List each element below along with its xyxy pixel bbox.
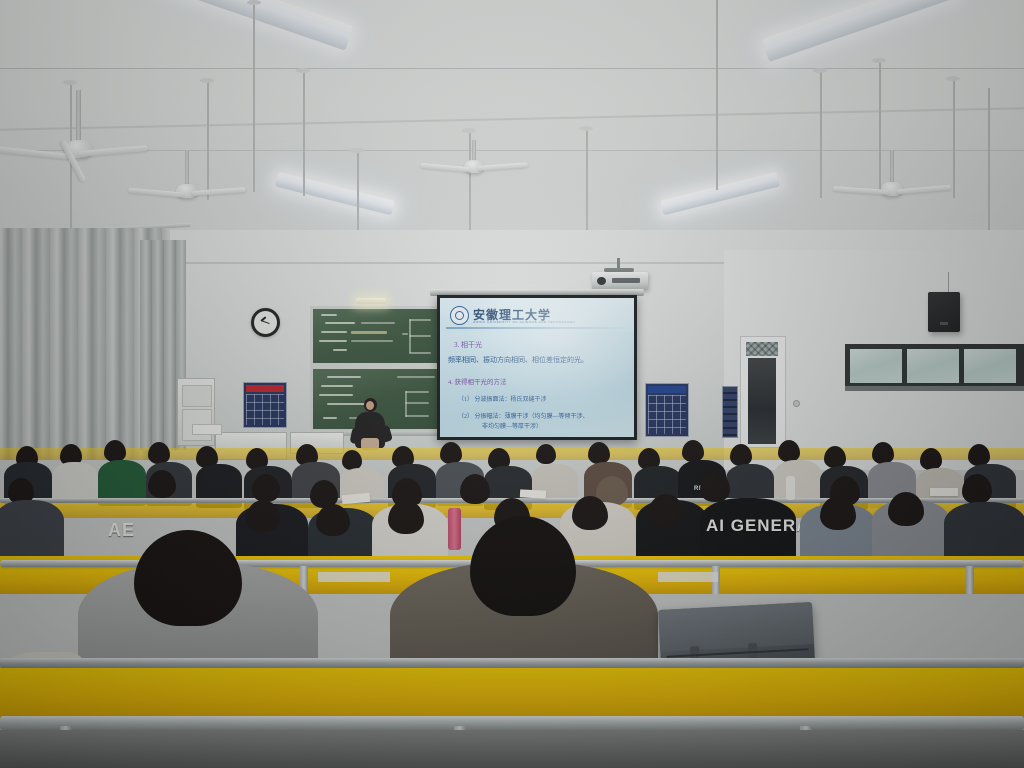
window-pane bbox=[964, 349, 1016, 383]
rod-cap bbox=[579, 126, 593, 131]
fan-pole bbox=[472, 140, 476, 162]
rod-cap bbox=[350, 148, 364, 153]
student-head bbox=[820, 496, 856, 530]
notice-board-left bbox=[243, 382, 287, 428]
clock-hand-minute bbox=[261, 320, 270, 324]
light-rod bbox=[303, 70, 305, 196]
desk-item bbox=[192, 424, 222, 435]
student-head bbox=[536, 444, 556, 464]
student-head bbox=[872, 442, 894, 464]
student-head bbox=[246, 500, 280, 532]
seat-slat bbox=[658, 572, 718, 582]
student-head bbox=[824, 446, 846, 468]
student-head bbox=[888, 492, 924, 526]
seat-slat bbox=[318, 572, 390, 582]
student-head bbox=[962, 474, 992, 504]
wall-clock bbox=[251, 308, 280, 337]
speaker-badge bbox=[940, 322, 948, 325]
foreground-student-head bbox=[134, 530, 242, 626]
ceiling-seam bbox=[0, 150, 1024, 151]
bag-flap bbox=[658, 602, 814, 652]
student-head bbox=[148, 470, 176, 498]
jacket-text-ae: AE bbox=[108, 520, 135, 541]
notice-board-header bbox=[648, 386, 686, 393]
light-rod bbox=[879, 60, 881, 192]
student-head bbox=[572, 496, 608, 530]
student-head bbox=[778, 440, 800, 462]
light-rod bbox=[207, 80, 209, 200]
projector-lens bbox=[597, 277, 606, 285]
ceiling-projector bbox=[592, 272, 648, 290]
notice-board-right bbox=[645, 383, 689, 437]
blackboard-lamp bbox=[356, 298, 386, 304]
rod-cap bbox=[813, 68, 827, 73]
notice-board-grid bbox=[648, 395, 686, 434]
student-head bbox=[342, 450, 362, 470]
leaflet-rack bbox=[722, 386, 738, 438]
paper-sheet bbox=[520, 489, 546, 498]
window-pane bbox=[850, 349, 902, 383]
student-head bbox=[968, 444, 990, 466]
floor bbox=[0, 730, 1024, 768]
rod-cap bbox=[63, 80, 77, 85]
window-frame bbox=[845, 344, 1024, 390]
door-transom-window bbox=[746, 342, 778, 356]
student-head bbox=[148, 442, 170, 464]
rod-cap bbox=[946, 76, 960, 81]
window-pane bbox=[907, 349, 959, 383]
student-head bbox=[648, 494, 684, 528]
student-head bbox=[730, 444, 752, 466]
projector-vent bbox=[612, 278, 640, 283]
projection-screen: 安徽理工大学 ANHUI UNIVERSITY OF SCIENCE AND T… bbox=[437, 295, 637, 440]
notice-board-grid bbox=[246, 394, 284, 425]
desk-front-rail bbox=[0, 716, 1024, 730]
rod-cap bbox=[872, 58, 886, 63]
light-rod bbox=[716, 0, 718, 190]
student-head bbox=[588, 442, 610, 464]
storage-cabinet bbox=[177, 378, 215, 446]
student-head bbox=[700, 472, 730, 502]
light-rod bbox=[820, 70, 822, 198]
classroom-photo: 安徽理工大学 ANHUI UNIVERSITY OF SCIENCE AND T… bbox=[0, 0, 1024, 768]
window-sill bbox=[845, 386, 1024, 391]
fan-pole bbox=[76, 90, 81, 142]
student-head bbox=[440, 442, 462, 464]
student-head bbox=[104, 440, 126, 462]
fan-pole bbox=[890, 150, 894, 184]
rod-cap bbox=[296, 68, 310, 73]
light-switch[interactable] bbox=[793, 400, 800, 407]
desk-leg bbox=[966, 566, 974, 594]
student-head bbox=[682, 440, 704, 462]
open-doorway bbox=[748, 358, 776, 444]
student-head bbox=[252, 474, 280, 502]
student-head bbox=[920, 448, 942, 470]
desk-edge-front bbox=[0, 658, 1024, 668]
rod-cap bbox=[200, 78, 214, 83]
water-bottle bbox=[786, 476, 795, 500]
student-torso bbox=[0, 500, 64, 564]
rod-cap bbox=[247, 0, 261, 5]
paper-sheet bbox=[930, 488, 958, 496]
speaker-wire bbox=[948, 272, 949, 294]
pink-water-bottle bbox=[448, 508, 461, 550]
light-rod bbox=[953, 78, 955, 198]
blackboard-panel-upper bbox=[310, 306, 442, 366]
light-rod bbox=[253, 0, 255, 192]
ceiling-seam bbox=[0, 68, 1024, 69]
rod-cap bbox=[462, 128, 476, 133]
student-head bbox=[460, 474, 490, 504]
student-head bbox=[388, 500, 424, 534]
desk-row-1 bbox=[0, 664, 1024, 724]
wall-speaker bbox=[928, 292, 960, 332]
student-head bbox=[316, 504, 350, 536]
fan-pole bbox=[185, 150, 189, 186]
screen-glare bbox=[440, 298, 634, 437]
notice-board-header bbox=[246, 385, 284, 392]
